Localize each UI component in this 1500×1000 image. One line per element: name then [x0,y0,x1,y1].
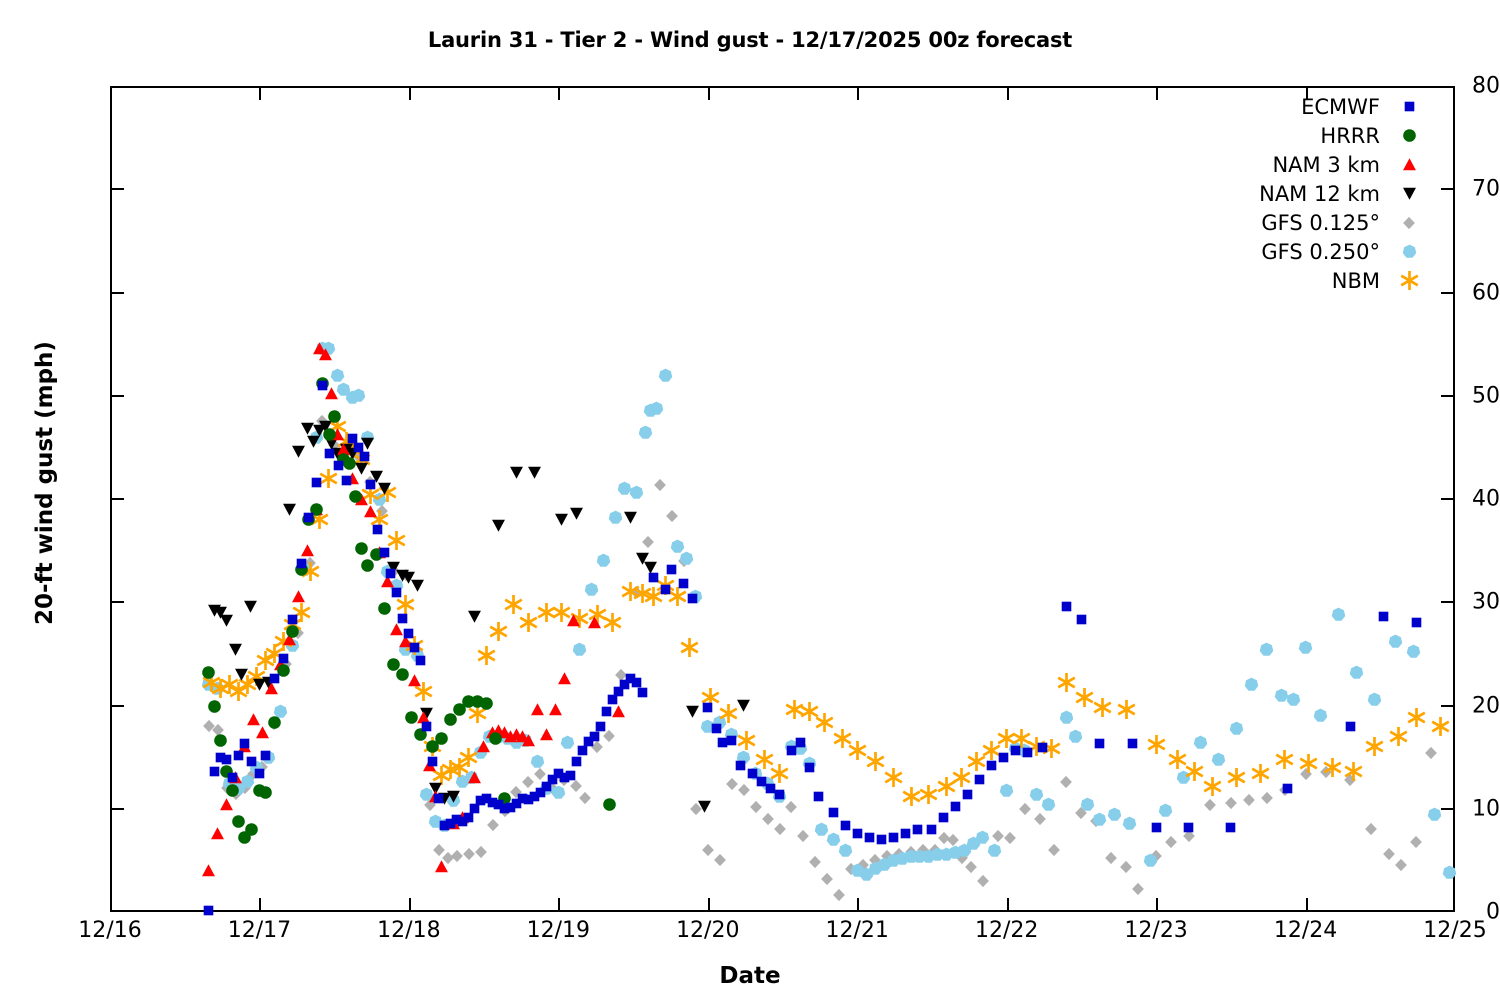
data-point [1009,744,1022,757]
x-axis-tick-label: 12/25 [1385,918,1500,943]
data-point [937,811,950,824]
x-axis-tick-label: 12/19 [488,918,628,943]
data-point [1075,613,1088,626]
data-point [378,546,391,559]
data-point [725,734,738,747]
data-point [576,744,589,757]
y-axis-tick-label: 80 [1440,74,1500,99]
data-point [1377,610,1390,623]
data-point [875,833,888,846]
data-point [647,571,660,584]
legend-item-gfs-0-250[interactable]: GFS 0.250° [1170,237,1420,266]
data-point [364,478,377,491]
data-point [214,751,227,764]
data-point [794,736,807,749]
square-marker [1398,96,1420,118]
data-point [396,612,409,625]
data-point [716,736,729,749]
data-point [402,627,415,640]
data-point [358,450,371,463]
data-point [755,775,768,788]
data-point [253,767,266,780]
data-point [659,583,672,596]
data-point [302,511,315,524]
pentagon-marker [1398,241,1420,263]
x-axis-tick-label: 12/16 [40,918,180,943]
diamond-marker [1398,212,1420,234]
data-point [624,672,637,685]
data-point [480,792,493,805]
data-point [773,788,786,801]
x-axis-tick-mark-top [1007,86,1009,100]
triangle-down-marker [1398,183,1420,205]
x-axis-tick-mark [1156,898,1158,912]
data-point [450,813,463,826]
x-axis-tick-mark-top [708,86,710,100]
x-axis-tick-mark-top [857,86,859,100]
data-point [1281,782,1294,795]
data-point [346,432,359,445]
data-point [961,788,974,801]
y-axis-tick-mark-right [1441,808,1455,810]
data-point [534,786,547,799]
data-point [686,592,699,605]
data-point [468,802,481,815]
data-point [863,831,876,844]
x-axis-title: Date [0,963,1500,989]
data-point [887,831,900,844]
data-point [384,567,397,580]
triangle-up-marker [1398,154,1420,176]
x-axis-tick-mark-top [259,86,261,100]
data-point [516,792,529,805]
y-axis-tick-mark-right [1441,601,1455,603]
data-point [1126,737,1139,750]
data-point [588,730,601,743]
data-point [973,773,986,786]
data-point [785,744,798,757]
legend-item-label: ECMWF [1301,95,1380,119]
x-axis-tick-mark [1306,898,1308,912]
data-point [510,797,523,810]
chart-legend: ECMWFHRRRNAM 3 kmNAM 12 kmGFS 0.125°GFS … [1170,92,1420,295]
data-point [220,753,233,766]
data-point [812,790,825,803]
data-point [746,767,759,780]
data-point [546,773,559,786]
data-point [636,686,649,699]
data-point [310,476,323,489]
data-point [570,755,583,768]
data-point [202,904,215,917]
data-point [1060,600,1073,613]
data-point [1410,616,1423,629]
data-point [226,771,239,784]
circle-marker [1398,125,1420,147]
y-axis-tick-mark-right [1441,498,1455,500]
x-axis-tick-mark [259,898,261,912]
legend-item-nam-3-km[interactable]: NAM 3 km [1170,150,1420,179]
legend-item-hrrr[interactable]: HRRR [1170,121,1420,150]
data-point [851,827,864,840]
data-point [232,749,245,762]
data-point [552,767,565,780]
data-point [295,557,308,570]
data-point [630,676,643,689]
y-axis-tick-mark-right [1441,395,1455,397]
data-point [456,815,469,828]
x-axis-tick-mark-top [558,86,560,100]
legend-item-label: HRRR [1320,124,1380,148]
data-point [332,459,345,472]
data-point [600,705,613,718]
data-point [371,523,384,536]
data-point [474,794,487,807]
data-point [504,801,517,814]
x-axis-tick-label: 12/22 [937,918,1077,943]
x-axis-tick-mark [1007,898,1009,912]
data-point [432,792,445,805]
data-point [1224,821,1237,834]
data-point [444,817,457,830]
data-point [839,819,852,832]
data-point [540,780,553,793]
y-axis-tick-mark [110,395,124,397]
y-axis-tick-mark [110,601,124,603]
y-axis-title: 20-ft wind gust (mph) [32,283,58,683]
data-point [612,685,625,698]
data-point [925,823,938,836]
data-point [208,765,221,778]
data-point [558,771,571,784]
legend-item-label: NAM 12 km [1259,182,1380,206]
data-point [462,811,475,824]
x-axis-tick-mark-top [409,86,411,100]
data-point [1036,741,1049,754]
data-point [618,678,631,691]
page-title: Laurin 31 - Tier 2 - Wind gust - 12/17/2… [0,28,1500,52]
x-axis-tick-mark-top [1156,86,1158,100]
data-point [701,701,714,714]
data-point [803,761,816,774]
data-point [245,755,258,768]
data-point [1093,737,1106,750]
y-axis-tick-mark [110,292,124,294]
data-point [420,720,433,733]
data-point [408,641,421,654]
data-point [259,749,272,762]
data-point [764,782,777,795]
data-point [492,798,505,811]
x-axis-tick-label: 12/21 [787,918,927,943]
y-axis-tick-mark [110,705,124,707]
data-point [486,796,499,809]
data-point [949,800,962,813]
data-point [438,819,451,832]
x-axis-tick-mark [558,898,560,912]
data-point [594,720,607,733]
y-axis-tick-mark [110,498,124,500]
data-point [911,823,924,836]
x-axis-tick-label: 12/18 [339,918,479,943]
x-axis-tick-label: 12/24 [1236,918,1376,943]
data-point [985,759,998,772]
legend-item-nam-12-km[interactable]: NAM 12 km [1170,179,1420,208]
legend-item-label: NBM [1332,269,1380,293]
legend-item-gfs-0-125[interactable]: GFS 0.125° [1170,208,1420,237]
data-point [665,563,678,576]
data-point [582,735,595,748]
x-axis-tick-label: 12/20 [638,918,778,943]
data-point [564,769,577,782]
data-point [286,613,299,626]
data-point [352,441,365,454]
data-point [414,654,427,667]
y-axis-tick-mark [110,188,124,190]
data-point [1344,720,1357,733]
data-point [277,652,290,665]
data-point [340,474,353,487]
data-point [677,577,690,590]
data-point [522,793,535,806]
y-axis-tick-mark-right [1441,705,1455,707]
data-point [316,379,329,392]
x-axis-tick-mark [409,898,411,912]
data-point [899,827,912,840]
data-point [1182,821,1195,834]
x-axis-tick-mark [708,898,710,912]
data-point [426,755,439,768]
x-axis-tick-label: 12/23 [1086,918,1226,943]
data-point [1021,746,1034,759]
legend-item-label: GFS 0.125° [1261,211,1380,235]
y-axis-tick-mark-right [1441,188,1455,190]
data-point [710,722,723,735]
data-point [323,447,336,460]
data-point [1150,821,1163,834]
y-axis-tick-mark-right [1441,292,1455,294]
legend-item-ecmwf[interactable]: ECMWF [1170,92,1420,121]
data-point [997,751,1010,764]
data-point [528,790,541,803]
data-point [606,693,619,706]
data-point [268,672,281,685]
x-axis-tick-label: 12/17 [189,918,329,943]
data-point [390,586,403,599]
data-point [734,759,747,772]
data-point [238,737,251,750]
asterisk-marker [1398,270,1420,292]
data-point [498,802,511,815]
y-axis-tick-mark [110,808,124,810]
legend-item-nbm[interactable]: NBM [1170,266,1420,295]
legend-item-label: NAM 3 km [1272,153,1380,177]
legend-item-label: GFS 0.250° [1261,240,1380,264]
data-point [827,806,840,819]
x-axis-tick-mark [857,898,859,912]
